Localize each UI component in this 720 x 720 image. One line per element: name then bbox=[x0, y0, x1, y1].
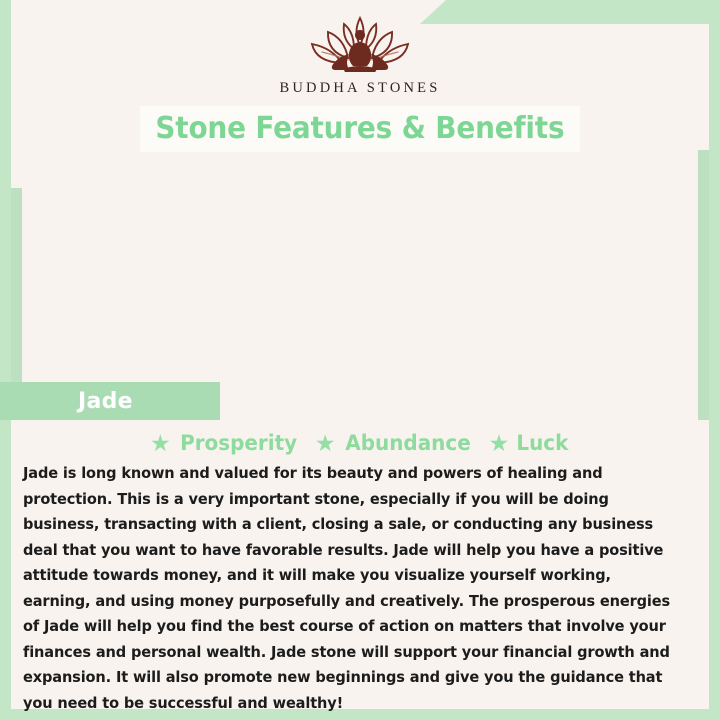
star-icon: ★ bbox=[489, 432, 510, 455]
stone-name: Jade bbox=[78, 389, 133, 414]
stone-name-banner: Jade bbox=[0, 382, 220, 420]
title-banner: Stone Features & Benefits bbox=[140, 106, 580, 152]
brand-name: BUDDHA STONES bbox=[0, 80, 720, 97]
star-icon: ★ bbox=[150, 432, 171, 455]
benefits-row: ★ Prosperity ★ Abundance ★ Luck bbox=[11, 420, 709, 455]
frame-border-right bbox=[709, 0, 720, 720]
star-icon: ★ bbox=[315, 432, 336, 455]
benefit-item: ★ Prosperity bbox=[150, 431, 300, 455]
infographic-card: BUDDHA STONES Stone Features & Benefits … bbox=[0, 0, 720, 720]
brand-logo: BUDDHA STONES bbox=[0, 12, 720, 97]
content-panel: ★ Prosperity ★ Abundance ★ Luck Jade is … bbox=[11, 420, 709, 709]
frame-border-left bbox=[0, 0, 11, 720]
benefit-item: ★ Luck bbox=[489, 431, 570, 455]
page-title: Stone Features & Benefits bbox=[156, 114, 565, 144]
benefit-label: Abundance bbox=[345, 431, 470, 455]
benefit-item: ★ Abundance bbox=[315, 431, 474, 455]
benefit-label: Luck bbox=[517, 431, 569, 455]
lotus-meditation-icon bbox=[292, 12, 428, 78]
stone-description: Jade is long known and valued for its be… bbox=[23, 461, 673, 716]
benefit-label: Prosperity bbox=[180, 431, 297, 455]
